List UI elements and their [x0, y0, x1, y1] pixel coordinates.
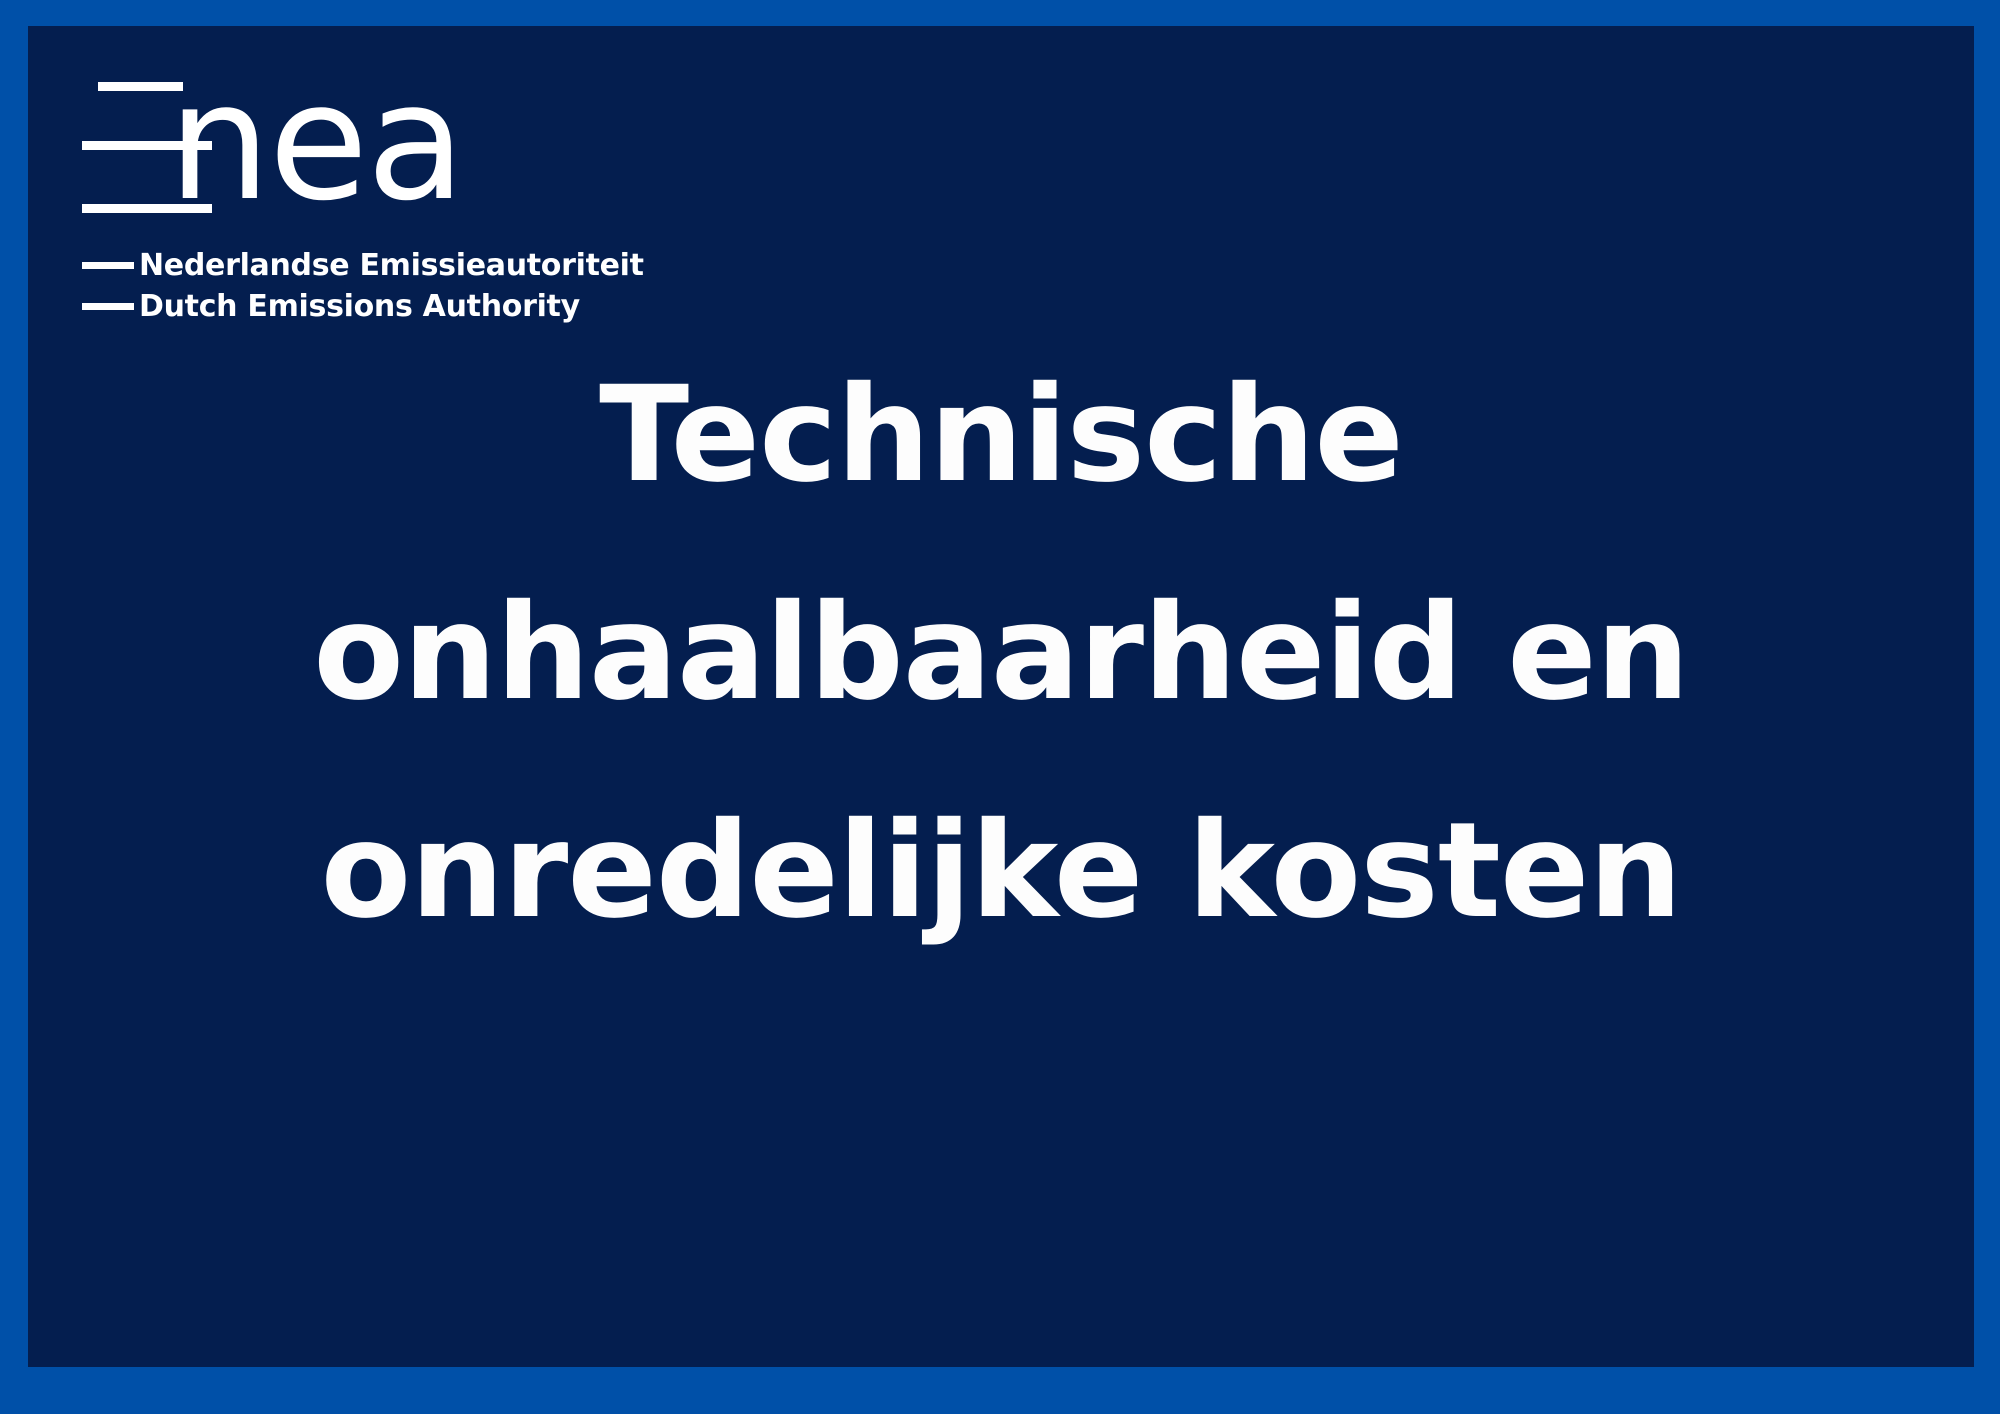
slide-title-line-3: onredelijke kosten: [28, 762, 1974, 980]
slide-inner-panel: nea Nederlandse Emissieautoriteit Dutch …: [28, 26, 1974, 1367]
logo-subtitle-nl: Nederlandse Emissieautoriteit: [139, 248, 644, 283]
presentation-slide: nea Nederlandse Emissieautoriteit Dutch …: [0, 0, 2000, 1414]
logo-subtitle-en-row: Dutch Emissions Authority: [82, 289, 580, 324]
logo-dash-nl-icon: [82, 262, 134, 269]
nea-logo: nea Nederlandse Emissieautoriteit Dutch …: [70, 36, 630, 296]
logo-subtitle-en: Dutch Emissions Authority: [139, 289, 580, 324]
slide-title-block: Technische onhaalbaarheid en onredelijke…: [28, 326, 1974, 980]
slide-title-line-1: Technische: [28, 326, 1974, 544]
logo-dash-en-icon: [82, 303, 134, 310]
logo-subtitle-nl-row: Nederlandse Emissieautoriteit: [82, 248, 644, 283]
slide-title-line-2: onhaalbaarheid en: [28, 544, 1974, 762]
logo-wordmark: nea: [168, 62, 464, 224]
